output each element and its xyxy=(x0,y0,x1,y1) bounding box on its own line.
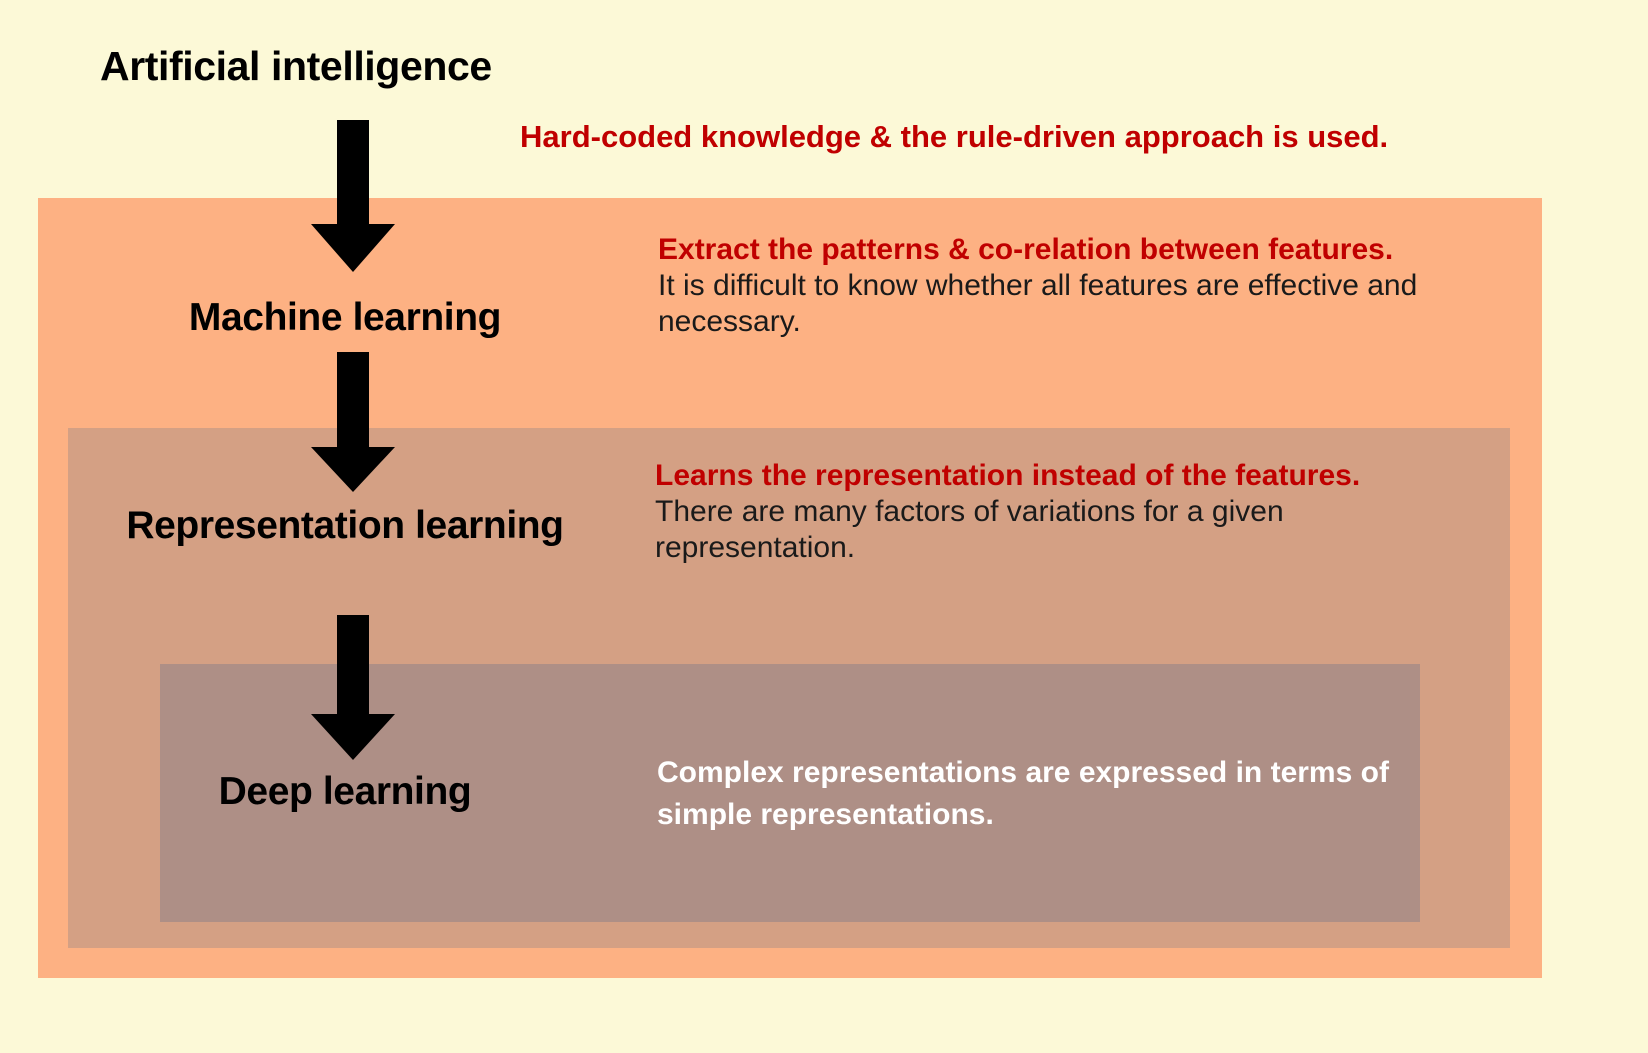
annotation-machine-learning: Extract the patterns & co-relation betwe… xyxy=(658,232,1458,340)
label-deep-learning: Deep learning xyxy=(95,770,595,814)
annotation-heading-machine-learning: Extract the patterns & co-relation betwe… xyxy=(658,232,1458,268)
annotation-body-machine-learning: It is difficult to know whether all feat… xyxy=(658,268,1458,340)
annotation-heading-representation-learning: Learns the representation instead of the… xyxy=(655,458,1465,494)
annotation-heading-ai: Hard-coded knowledge & the rule-driven a… xyxy=(520,118,1640,157)
down-arrow-icon-ai-to-ml xyxy=(311,120,395,272)
down-arrow-icon-ml-to-rl xyxy=(311,352,395,492)
diagram-canvas: Artificial intelligence Machine learning… xyxy=(0,0,1648,1053)
annotation-deep-learning: Complex representations are expressed in… xyxy=(657,752,1417,836)
annotation-body-representation-learning: There are many factors of variations for… xyxy=(655,494,1465,566)
annotation-representation-learning: Learns the representation instead of the… xyxy=(655,458,1465,566)
label-representation-learning: Representation learning xyxy=(95,504,595,548)
label-machine-learning: Machine learning xyxy=(95,296,595,340)
annotation-artificial-intelligence: Hard-coded knowledge & the rule-driven a… xyxy=(520,118,1640,157)
down-arrow-icon-rl-to-dl xyxy=(311,615,395,760)
label-artificial-intelligence: Artificial intelligence xyxy=(100,44,600,90)
annotation-heading-deep-learning: Complex representations are expressed in… xyxy=(657,752,1417,836)
